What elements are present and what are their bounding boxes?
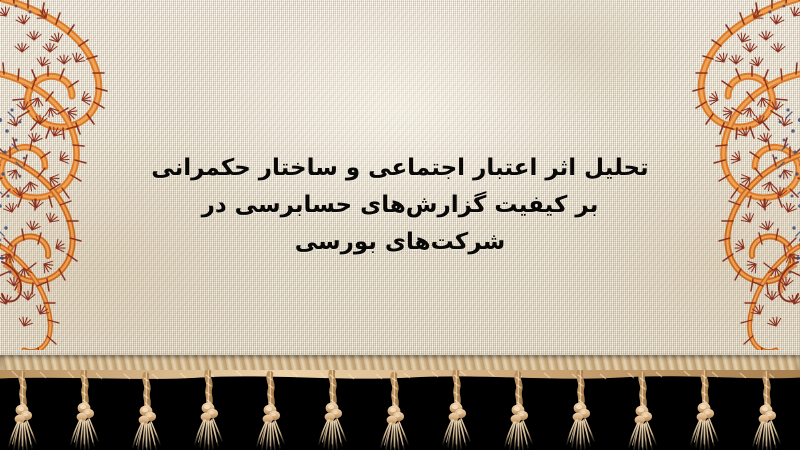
title-line-2: بر کیفیت گزارش‌های حسابرسی در <box>0 187 800 224</box>
title-card-canvas: تحلیل اثر اعتبار اجتماعی و ساختار حکمران… <box>0 0 800 450</box>
page-title: تحلیل اثر اعتبار اجتماعی و ساختار حکمران… <box>0 150 800 261</box>
black-backdrop <box>0 372 800 450</box>
title-line-3: شرکت‌های بورسی <box>0 224 800 261</box>
title-line-1: تحلیل اثر اعتبار اجتماعی و ساختار حکمران… <box>0 150 800 187</box>
